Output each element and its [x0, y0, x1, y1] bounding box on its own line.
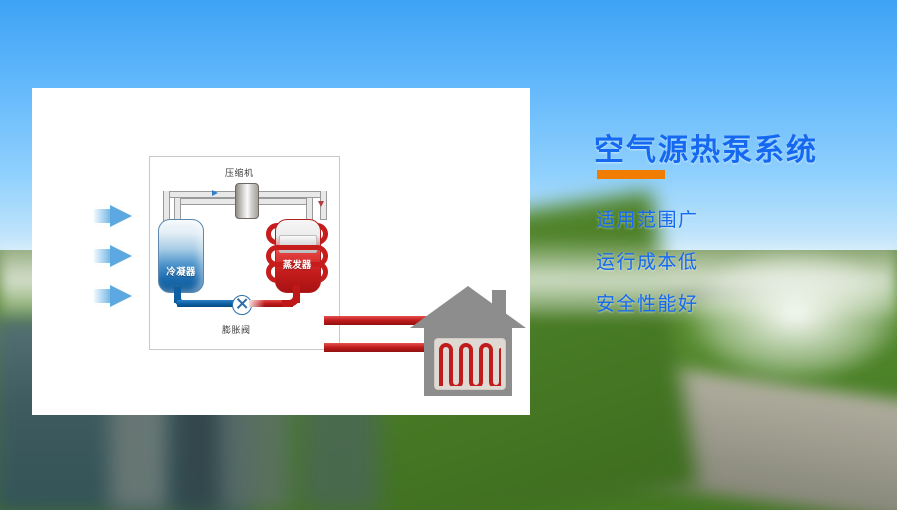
underfloor-heating-coil-icon — [437, 340, 501, 386]
compressor-unit — [235, 183, 259, 219]
condenser-label: 冷凝器 — [159, 264, 203, 278]
sun-glare — [690, 250, 897, 380]
illustration-panel: 压缩机 冷凝器 膨胀阀 — [32, 88, 530, 415]
gas-pipe-top-right — [255, 191, 326, 198]
flow-direction-arrow-icon — [212, 190, 218, 196]
list-item: 运行成本低 — [596, 247, 699, 274]
feature-list: 适用范围广 运行成本低 安全性能好 — [596, 205, 699, 331]
evaporator-outlet — [293, 285, 300, 303]
compressor-label: 压缩机 — [225, 166, 254, 179]
gas-pipe-top-left-inner — [174, 198, 238, 205]
air-flow-arrow-icon — [110, 245, 132, 267]
gas-pipe-top-right-inner — [255, 198, 312, 205]
roof-shape — [410, 286, 526, 328]
liquid-line — [177, 300, 234, 307]
chimney-shape — [492, 290, 506, 324]
air-flow-arrow-icon — [110, 205, 132, 227]
slide-canvas: 压缩机 冷凝器 膨胀阀 — [0, 0, 897, 510]
list-item: 适用范围广 — [596, 205, 699, 232]
gas-pipe-top-left — [163, 191, 238, 198]
list-item: 安全性能好 — [596, 289, 699, 316]
page-title: 空气源热泵系统 — [594, 125, 818, 169]
condenser-unit: 冷凝器 — [158, 219, 204, 293]
air-arrow-tail — [94, 209, 110, 223]
air-flow-arrow-icon — [110, 285, 132, 307]
flow-direction-arrow-icon — [318, 201, 324, 207]
expansion-valve-label: 膨胀阀 — [222, 323, 251, 336]
air-arrow-tail — [94, 289, 110, 303]
title-accent-bar — [597, 170, 665, 179]
gas-pipe-right-riser-inner — [306, 198, 313, 221]
air-arrow-tail — [94, 249, 110, 263]
refrigeration-cycle-box: 压缩机 冷凝器 膨胀阀 — [149, 156, 340, 350]
hot-gas-line-fade — [249, 300, 265, 307]
evaporator-label: 蒸发器 — [275, 257, 319, 271]
house-illustration — [410, 286, 526, 396]
